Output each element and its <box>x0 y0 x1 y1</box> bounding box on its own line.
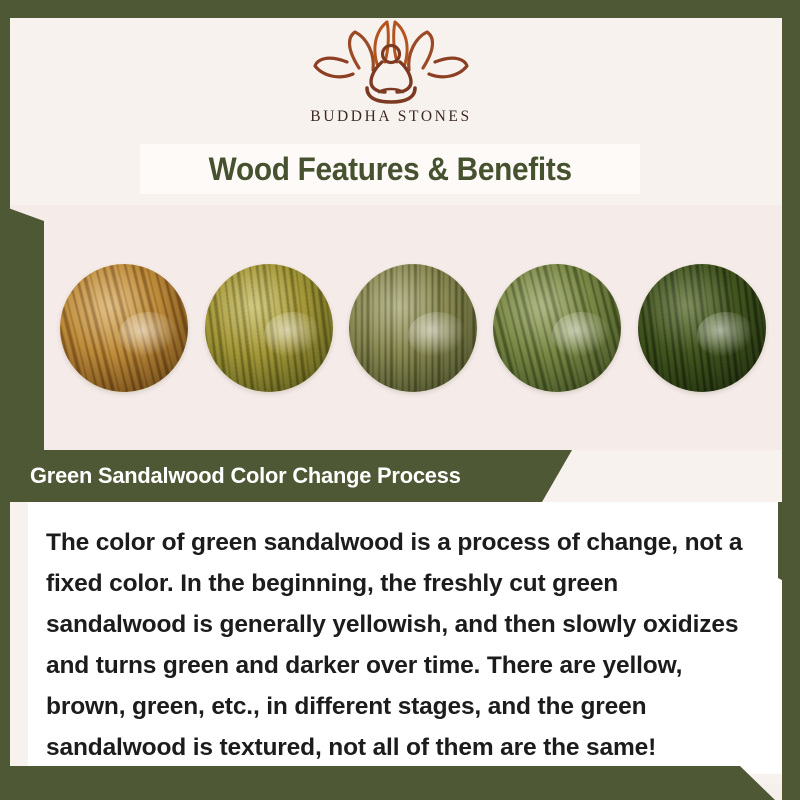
bead-stage-1 <box>60 264 188 392</box>
bead-stage-2 <box>205 264 333 392</box>
bead-highlight <box>119 312 178 358</box>
bead-stage-5 <box>638 264 766 392</box>
bead-highlight <box>408 312 467 358</box>
section-banner-title: Green Sandalwood Color Change Process <box>30 463 461 489</box>
bead-stage-4 <box>493 264 621 392</box>
description-paragraph: The color of green sandalwood is a proce… <box>46 522 746 768</box>
bead-highlight <box>552 312 611 358</box>
frame-top-edge <box>0 0 800 18</box>
brand-name: BUDDHA STONES <box>310 108 471 126</box>
infographic-canvas: BUDDHA STONES Wood Features & Benefits <box>0 0 800 800</box>
bead-highlight <box>264 312 323 358</box>
frame-bottom-bar <box>0 766 800 800</box>
bead-highlight <box>697 312 756 358</box>
lotus-meditation-icon <box>301 18 481 106</box>
section-banner: Green Sandalwood Color Change Process <box>0 450 572 502</box>
frame-right-edge <box>782 0 800 800</box>
frame-left-edge <box>0 0 10 800</box>
brand-logo: BUDDHA STONES <box>0 18 782 146</box>
bead-row <box>44 205 782 450</box>
bead-stage-3 <box>349 264 477 392</box>
page-title-band: Wood Features & Benefits <box>140 144 640 194</box>
page-title: Wood Features & Benefits <box>208 151 571 188</box>
